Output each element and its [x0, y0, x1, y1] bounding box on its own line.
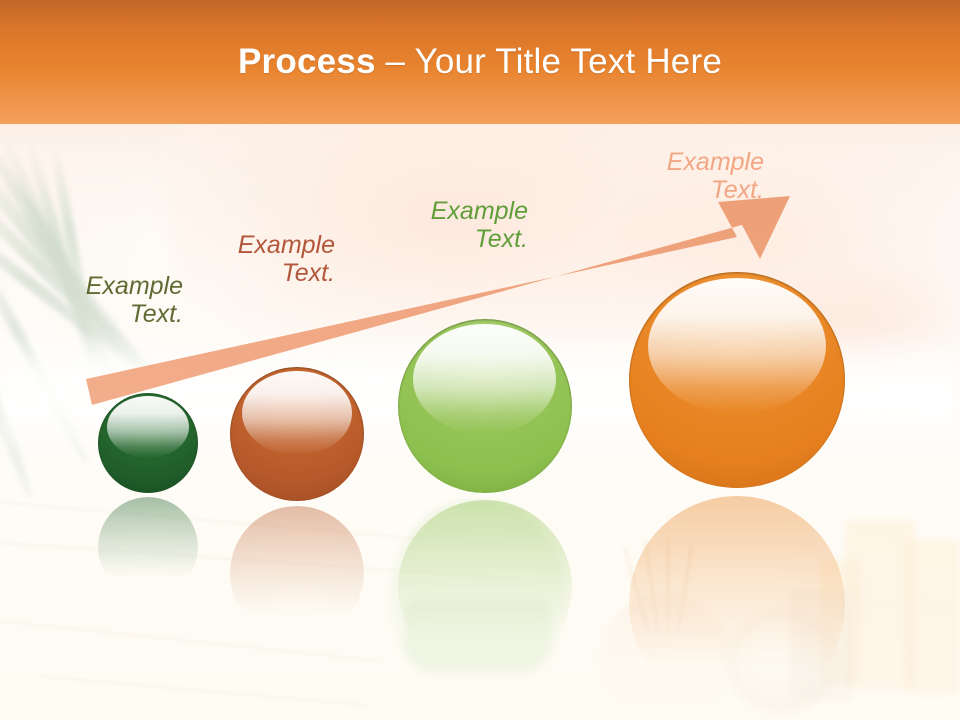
step-3-label-line1: Example	[431, 197, 528, 225]
step-3-sphere-rim	[398, 319, 572, 493]
title-rest-part: – Your Title Text Here	[376, 42, 722, 81]
step-3-sphere[interactable]	[398, 319, 572, 493]
title-bold-part: Process	[238, 42, 376, 81]
step-2-sphere-reflection	[230, 506, 364, 640]
slide-canvas: Example Text. Example Text. Example Text…	[0, 0, 960, 720]
title-bar: Process – Your Title Text Here	[0, 0, 960, 124]
step-2-sphere[interactable]	[230, 367, 364, 501]
step-4-sphere[interactable]	[629, 272, 845, 488]
step-3-label: Example Text.	[373, 197, 528, 253]
step-1-label-line2: Text.	[28, 300, 183, 328]
step-3-sphere-reflection	[398, 500, 572, 674]
step-1-label-line1: Example	[86, 272, 183, 300]
step-4-label-line1: Example	[667, 148, 764, 176]
step-4-label: Example Text.	[609, 148, 764, 204]
step-2-label: Example Text.	[180, 231, 335, 287]
step-2-label-line2: Text.	[180, 259, 335, 287]
step-2-sphere-rim	[230, 367, 364, 501]
page-title: Process – Your Title Text Here	[238, 42, 722, 82]
step-4-label-line2: Text.	[609, 176, 764, 204]
step-2-label-line1: Example	[238, 231, 335, 259]
step-4-sphere-group	[629, 272, 845, 662]
step-1-sphere[interactable]	[98, 393, 198, 493]
step-1-sphere-reflection	[98, 497, 198, 597]
step-4-sphere-reflection	[629, 496, 845, 712]
step-2-sphere-group	[230, 367, 364, 617]
step-3-label-line2: Text.	[373, 225, 528, 253]
step-1-sphere-rim	[98, 393, 198, 493]
step-3-sphere-group	[398, 319, 572, 639]
step-4-sphere-rim	[629, 272, 845, 488]
step-1-label: Example Text.	[28, 272, 183, 328]
step-1-sphere-group	[98, 393, 198, 583]
